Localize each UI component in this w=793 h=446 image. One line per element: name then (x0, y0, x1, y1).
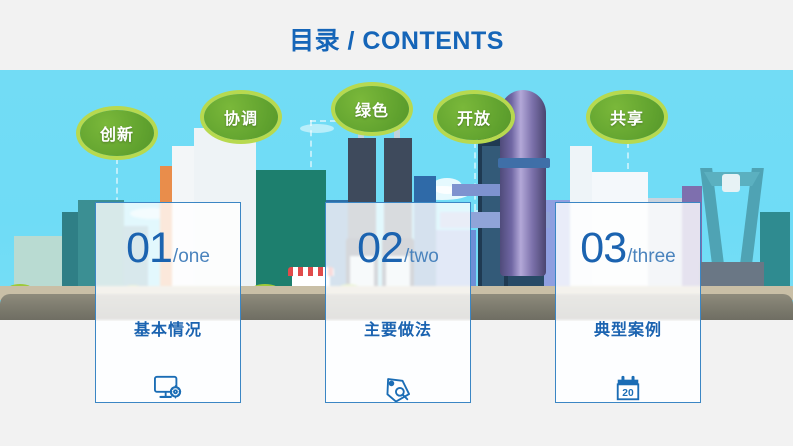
calendar-day: 20 (622, 388, 634, 399)
card-number-en: /three (627, 245, 676, 269)
card-number: 02 (357, 226, 403, 270)
concept-badge-coordination: 协调 (204, 94, 278, 140)
content-card-02[interactable]: 02 /two 主要做法 (325, 202, 471, 403)
card-number: 03 (580, 226, 626, 270)
card-number-row: 02 /two (326, 226, 470, 270)
monitor-settings-icon (153, 375, 183, 403)
concept-badge-sharing: 共享 (590, 94, 664, 140)
content-card-01[interactable]: 01 /one 基本情况 (95, 202, 241, 403)
page-title: 目录 / CONTENTS (0, 26, 793, 56)
concept-badge-label: 创新 (100, 121, 134, 145)
connector-line (310, 120, 336, 122)
concept-badge-label: 协调 (224, 105, 258, 129)
content-card-03[interactable]: 03 /three 典型案例 20 (555, 202, 701, 403)
concept-badge-innovation: 创新 (80, 110, 154, 156)
slide-root: 目录 / CONTENTS (0, 0, 793, 446)
building (62, 212, 78, 296)
card-title: 基本情况 (134, 316, 202, 340)
concept-badge-label: 共享 (610, 105, 644, 129)
pen-nib-search-icon (383, 375, 413, 403)
building (760, 212, 790, 296)
concept-badge-label: 开放 (457, 105, 491, 129)
cloud-icon (300, 124, 334, 133)
connector-line (474, 142, 476, 210)
concept-badge-green: 绿色 (335, 86, 409, 132)
concept-badge-openness: 开放 (437, 94, 511, 140)
card-number-en: /two (404, 245, 439, 269)
landmark-arch-center (722, 174, 740, 192)
landmark-tower-band (498, 158, 550, 168)
card-title: 典型案例 (594, 316, 662, 340)
card-title: 主要做法 (364, 316, 432, 340)
title-bar: 目录 / CONTENTS (0, 26, 793, 56)
calendar-icon: 20 (613, 375, 643, 403)
card-number-en: /one (173, 245, 210, 269)
card-number-row: 03 /three (556, 226, 700, 270)
concept-badge-label: 绿色 (355, 97, 389, 121)
card-number-row: 01 /one (96, 226, 240, 270)
card-number: 01 (126, 226, 172, 270)
